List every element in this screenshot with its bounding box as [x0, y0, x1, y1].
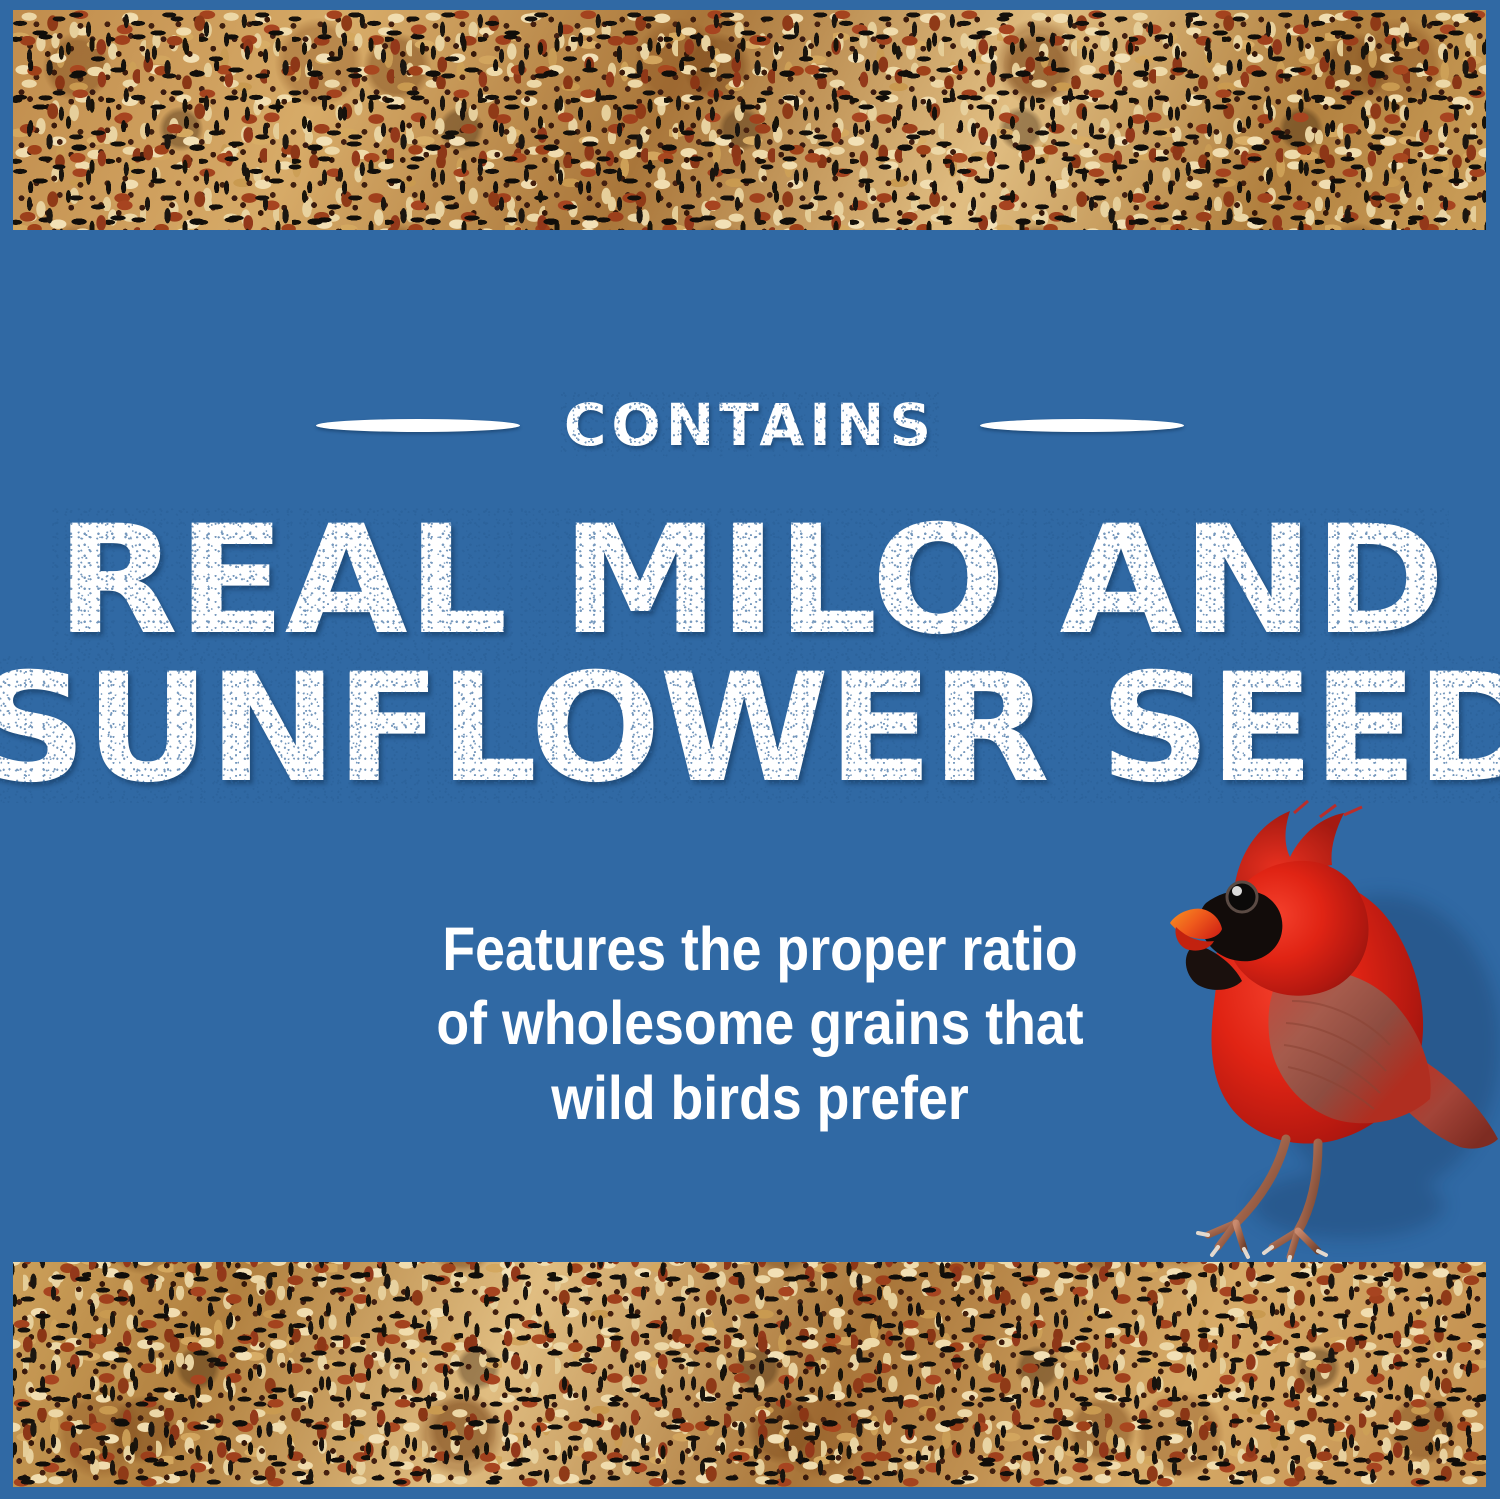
- cardinal-crest-tips: [1294, 801, 1362, 817]
- headline: REAL MILO AND SUNFLOWER SEEDS: [0, 512, 1500, 799]
- northern-cardinal-image: [1168, 795, 1500, 1265]
- headline-line-2: SUNFLOWER SEEDS: [0, 660, 1500, 800]
- seed-texture-band-bottom: [13, 1262, 1486, 1487]
- eyebrow-label: CONTAINS: [564, 396, 936, 454]
- body-copy-line-3: wild birds prefer: [355, 1061, 1165, 1135]
- eyebrow-row: CONTAINS: [0, 396, 1500, 454]
- product-feature-banner: CONTAINS REAL MILO AND SUNFLOWER SEEDS F…: [0, 0, 1500, 1499]
- headline-line-1: REAL MILO AND: [56, 512, 1445, 652]
- seed-mix-image-bottom: [13, 1262, 1486, 1487]
- cardinal-eye-highlight: [1232, 886, 1242, 896]
- decorative-lens-rule-right-icon: [980, 419, 1184, 432]
- seed-texture-band-top: [13, 10, 1486, 230]
- seed-mix-image-top: [13, 10, 1486, 230]
- decorative-lens-rule-left-icon: [316, 419, 520, 432]
- body-copy-line-1: Features the proper ratio: [355, 912, 1165, 986]
- body-copy-line-2: of wholesome grains that: [355, 986, 1165, 1060]
- body-copy: Features the proper ratio of wholesome g…: [355, 912, 1165, 1135]
